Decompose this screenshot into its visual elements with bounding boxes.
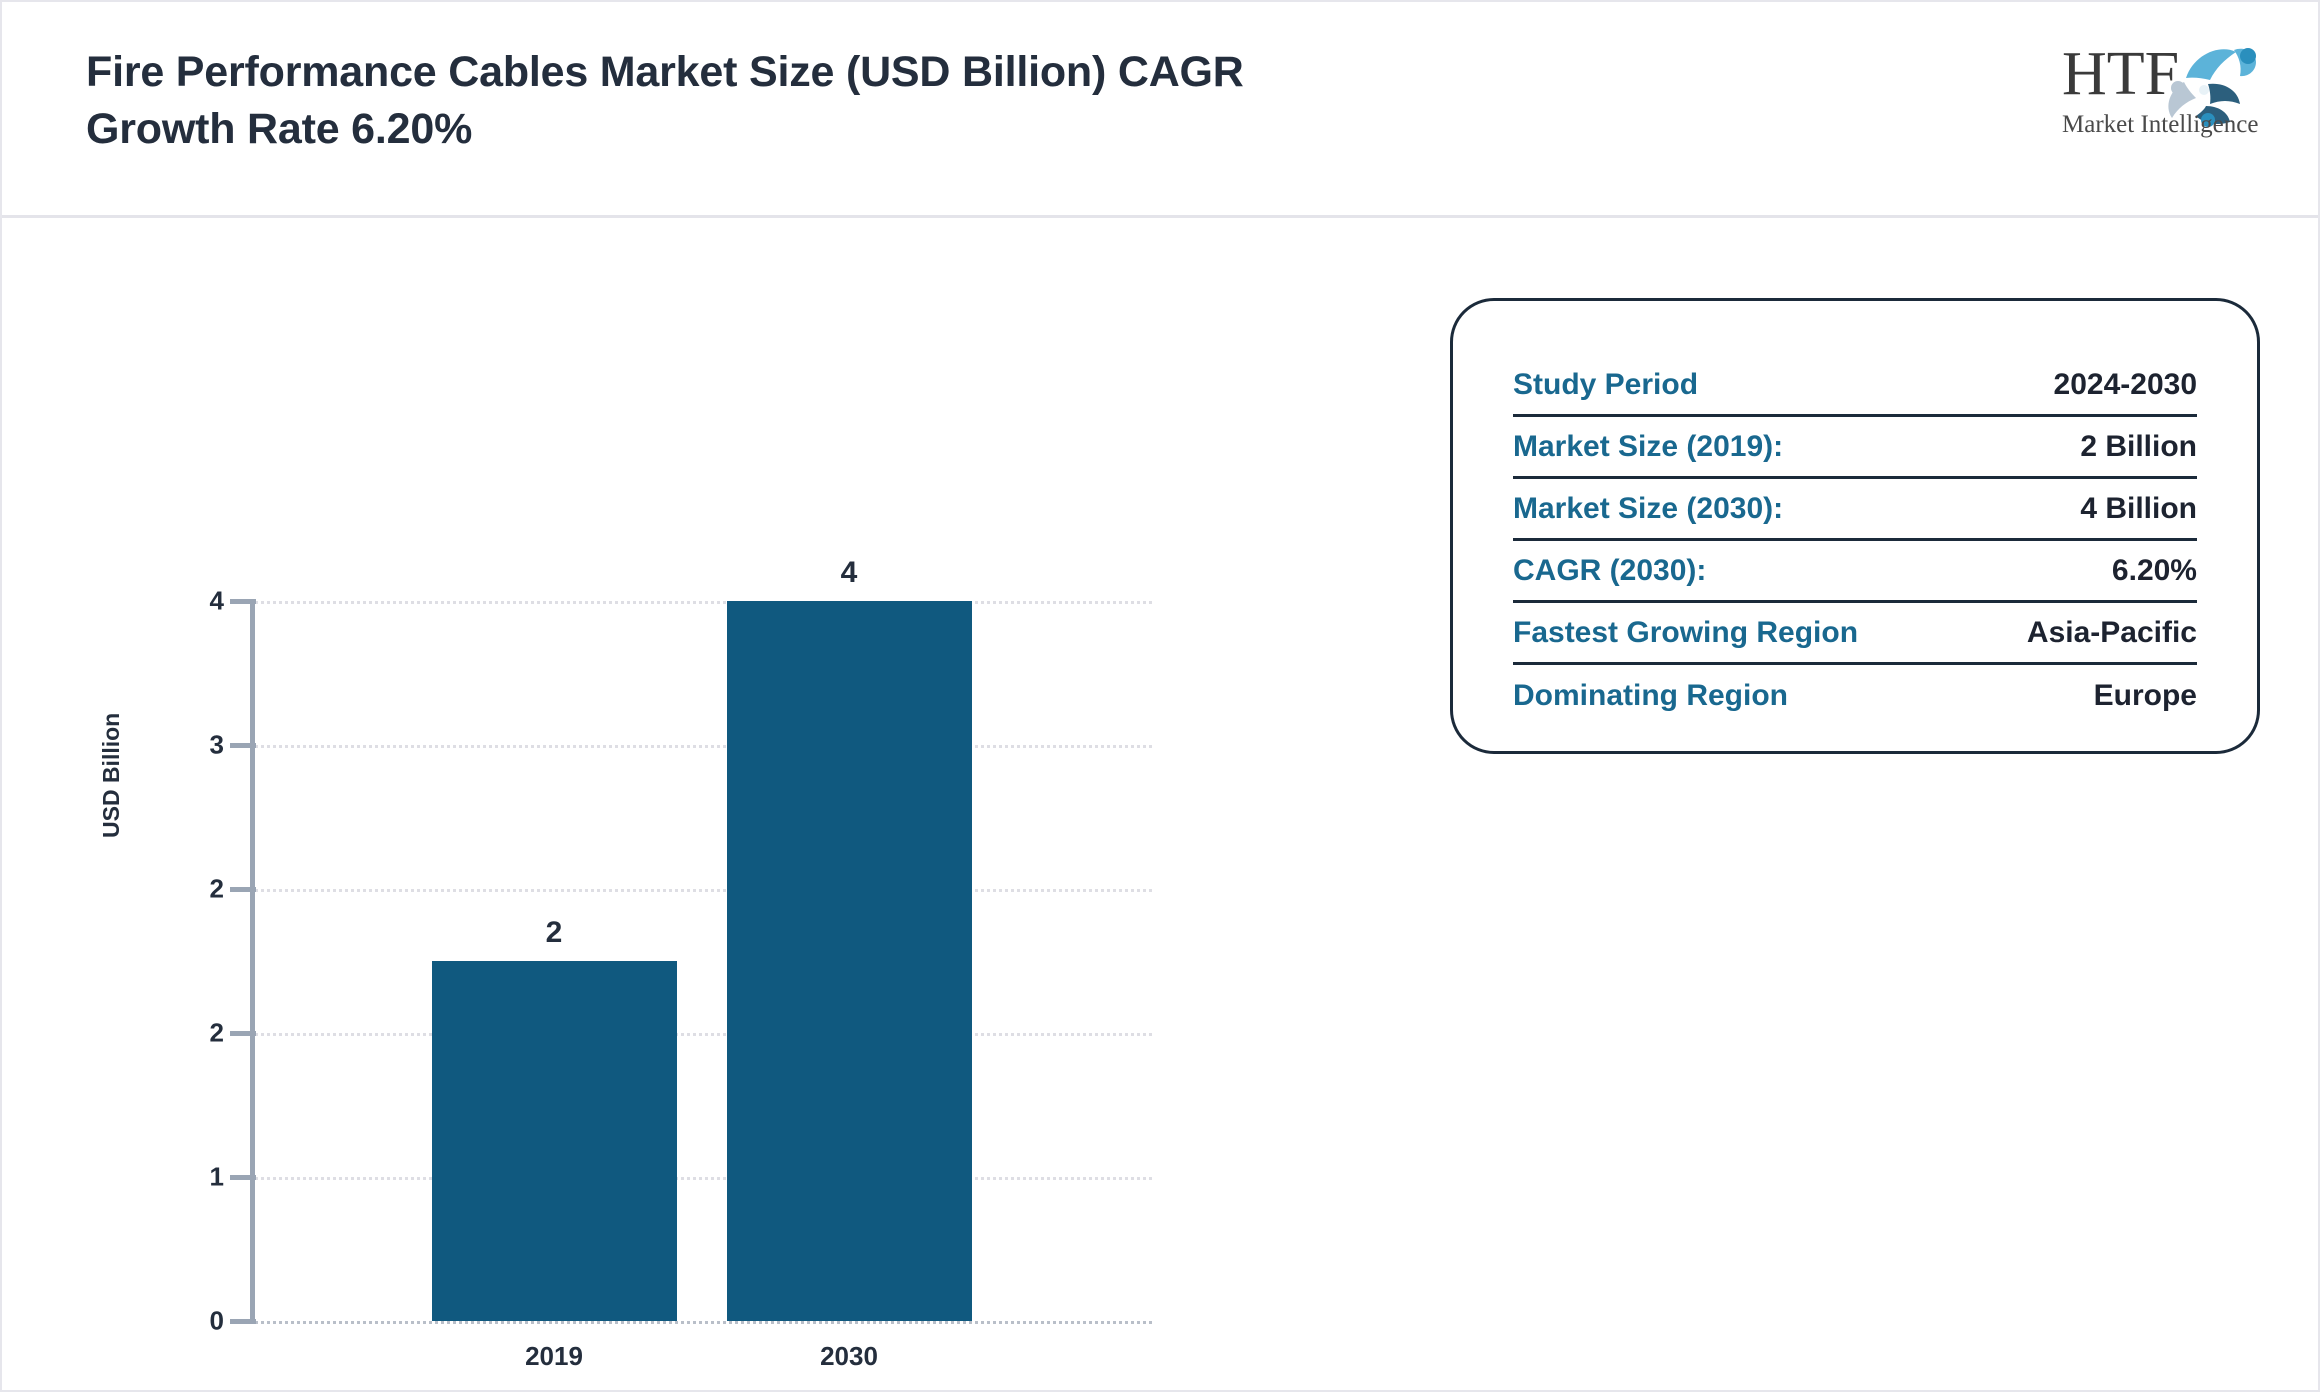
y-axis-spine [250, 601, 255, 1321]
logo-tagline-text: Market Intelligence [2062, 111, 2258, 138]
bar-value-2030: 4 [841, 556, 858, 590]
y-tick-label: 2 [184, 874, 224, 905]
tick-4 [230, 599, 256, 604]
header-bar: Fire Performance Cables Market Size (USD… [2, 2, 2320, 218]
logo-svg: HTF Market Intelligence [2058, 32, 2274, 144]
gridline-2a [255, 889, 1152, 892]
row-value: Europe [2094, 679, 2197, 713]
tick-1 [230, 1175, 256, 1180]
row-label: Market Size (2030): [1513, 492, 1783, 526]
gridline-4 [255, 601, 1152, 604]
page-title: Fire Performance Cables Market Size (USD… [86, 44, 1336, 158]
table-row: Market Size (2030): 4 Billion [1513, 479, 2197, 541]
x-tick-label-2019: 2019 [525, 1341, 583, 1372]
table-row: Study Period 2024-2030 [1513, 355, 2197, 417]
row-label: Dominating Region [1513, 679, 1788, 713]
bar-value-2019: 2 [546, 916, 563, 950]
infographic-frame: Fire Performance Cables Market Size (USD… [0, 0, 2320, 1392]
tick-3 [230, 743, 256, 748]
row-value: 4 Billion [2080, 492, 2197, 526]
bar-2030[interactable] [727, 601, 972, 1321]
gridline-3 [255, 745, 1152, 748]
gridline-2b [255, 1033, 1152, 1036]
row-value: 6.20% [2112, 554, 2197, 588]
y-tick-label: 1 [184, 1162, 224, 1193]
tick-2a [230, 887, 256, 892]
bar-2019[interactable] [432, 961, 677, 1321]
row-label: Study Period [1513, 368, 1698, 402]
tick-2b [230, 1031, 256, 1036]
logo-wordmark-text: HTF [2062, 40, 2179, 108]
y-tick-label: 0 [184, 1306, 224, 1337]
tick-0 [230, 1319, 256, 1324]
y-tick-label: 2 [184, 1018, 224, 1049]
row-label: Fastest Growing Region [1513, 616, 1858, 650]
table-row: Fastest Growing Region Asia-Pacific [1513, 603, 2197, 665]
y-tick-label: 3 [184, 730, 224, 761]
row-value: 2024-2030 [2054, 368, 2197, 402]
row-value: 2 Billion [2080, 430, 2197, 464]
x-tick-label-2030: 2030 [820, 1341, 878, 1372]
gridline-0-baseline [255, 1321, 1152, 1324]
row-value: Asia-Pacific [2027, 616, 2197, 650]
y-axis-title: USD Billion [98, 713, 125, 838]
bar-chart: USD Billion 4 3 2 2 1 0 [2, 218, 1422, 1392]
htf-market-intelligence-logo: HTF Market Intelligence [2058, 32, 2274, 144]
row-label: CAGR (2030): [1513, 554, 1706, 588]
table-row: Market Size (2019): 2 Billion [1513, 417, 2197, 479]
gridline-1 [255, 1177, 1152, 1180]
market-summary-card: Study Period 2024-2030 Market Size (2019… [1450, 298, 2260, 754]
y-tick-label: 4 [184, 586, 224, 617]
table-row: Dominating Region Europe [1513, 665, 2197, 727]
row-label: Market Size (2019): [1513, 430, 1783, 464]
table-row: CAGR (2030): 6.20% [1513, 541, 2197, 603]
